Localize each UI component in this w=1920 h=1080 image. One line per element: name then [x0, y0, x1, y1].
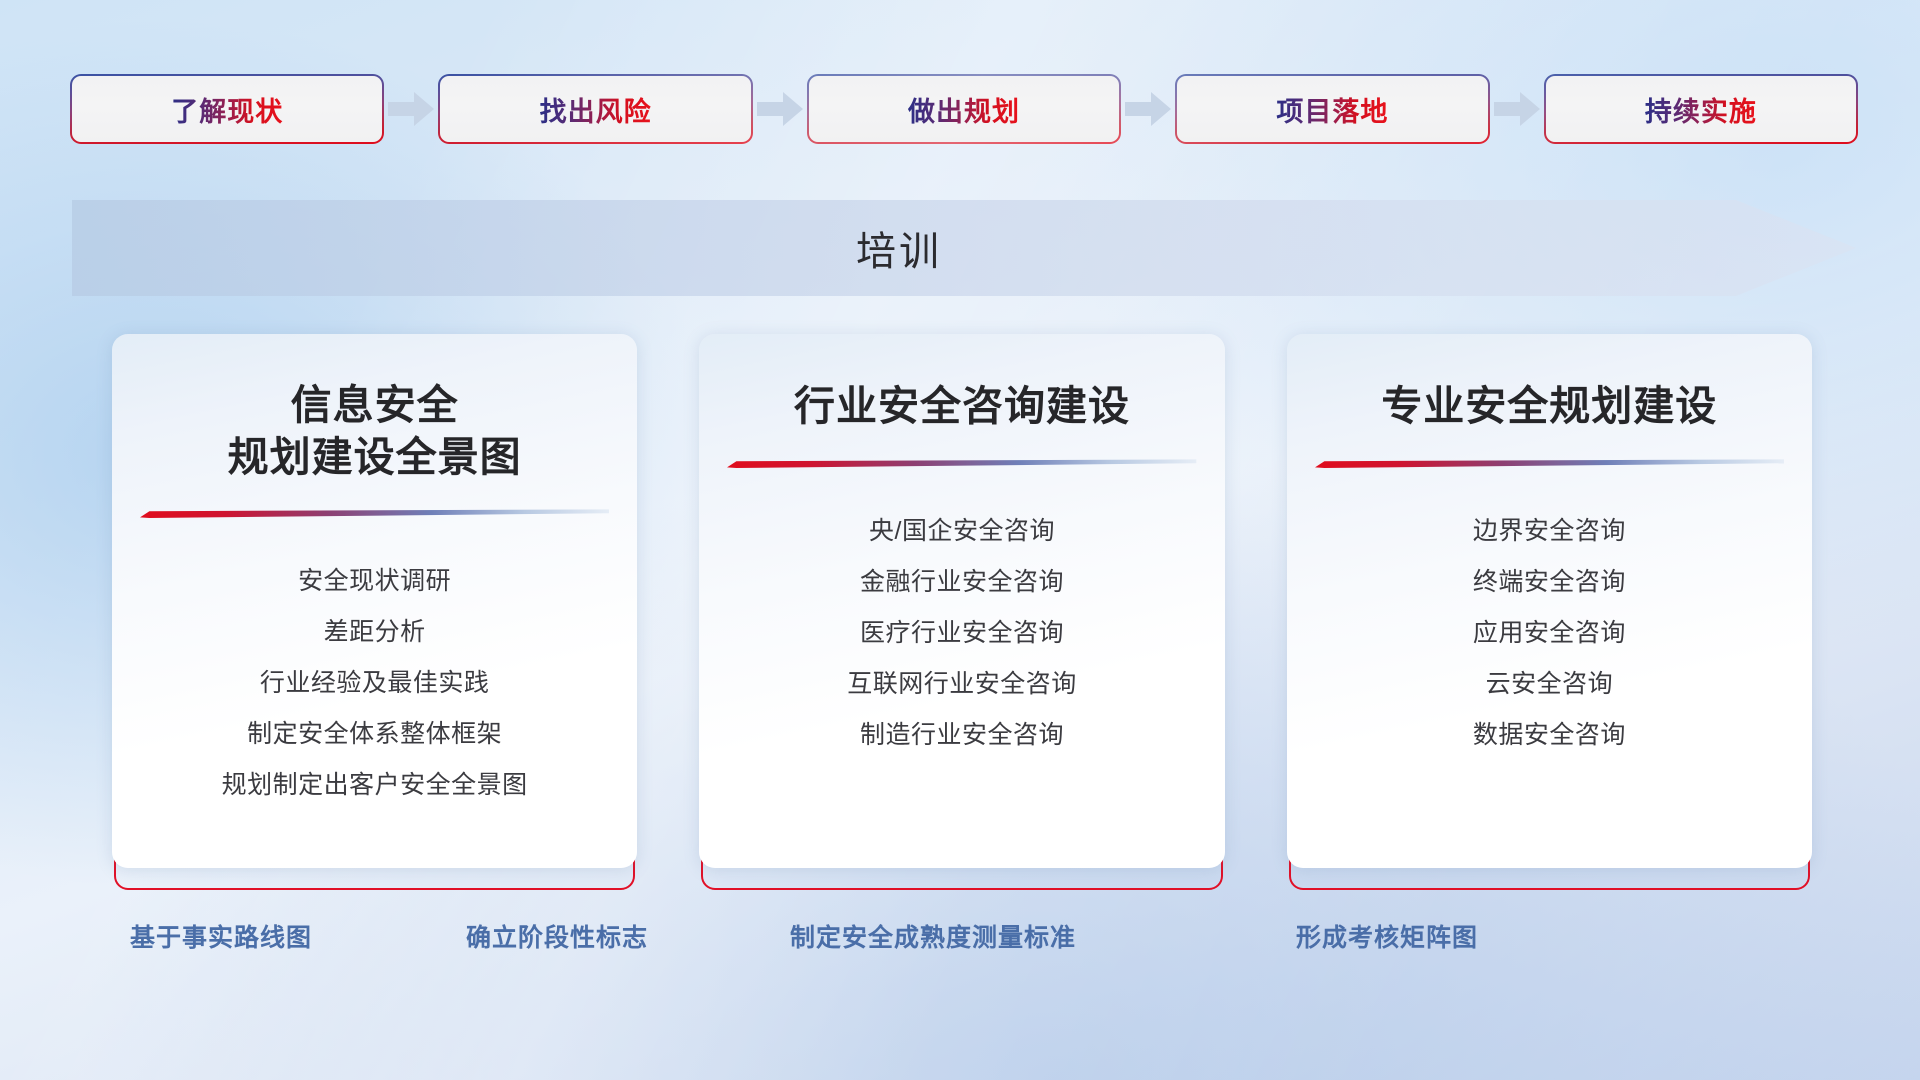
- card-row: 信息安全 规划建设全景图: [112, 334, 1812, 882]
- card-title-line: 专业安全规划建设: [1381, 380, 1717, 433]
- list-item: 制定安全体系整体框架: [222, 709, 528, 760]
- banner-title: 培训: [72, 200, 1856, 296]
- list-item: 规划制定出客户安全全景图: [222, 760, 528, 811]
- card-2[interactable]: 行业安全咨询建设: [699, 334, 1224, 882]
- bottom-label-2: 确立阶段性标志: [466, 918, 648, 954]
- card-title-line: 规划建设全景图: [228, 432, 522, 484]
- card-title: 行业安全咨询建设: [794, 380, 1130, 433]
- training-banner: 培训: [72, 200, 1856, 296]
- bottom-label-4: 形成考核矩阵图: [1296, 918, 1478, 954]
- list-item: 互联网行业安全咨询: [847, 659, 1077, 710]
- card-title-line: 行业安全咨询建设: [794, 380, 1130, 433]
- bottom-label-1: 基于事实路线图: [130, 918, 312, 954]
- gradient-divider: [140, 509, 609, 518]
- list-item: 应用安全咨询: [1473, 608, 1626, 659]
- list-item: 央/国企安全咨询: [847, 506, 1077, 557]
- bottom-label-3: 制定安全成熟度测量标准: [790, 918, 1076, 954]
- list-item: 差距分析: [222, 607, 528, 658]
- step-pill-2[interactable]: 找出风险: [440, 76, 750, 142]
- list-item: 行业经验及最佳实践: [222, 658, 528, 709]
- list-item: 数据安全咨询: [1473, 710, 1626, 761]
- card-title-line: 信息安全: [228, 380, 522, 432]
- list-item: 金融行业安全咨询: [847, 557, 1077, 608]
- step-label: 了解现状: [171, 90, 283, 129]
- list-item: 云安全咨询: [1473, 659, 1626, 710]
- process-step-row: 了解现状 找出风险 做出规划 项目落地 持续实施: [72, 76, 1856, 142]
- step-label: 做出规划: [908, 90, 1020, 129]
- list-item: 安全现状调研: [222, 556, 528, 607]
- arrow-right-icon: [1119, 89, 1177, 129]
- card-title: 专业安全规划建设: [1381, 380, 1717, 433]
- card-title: 信息安全 规划建设全景图: [228, 380, 522, 483]
- step-label: 项目落地: [1276, 90, 1388, 129]
- card-1[interactable]: 信息安全 规划建设全景图: [112, 334, 637, 882]
- card-3[interactable]: 专业安全规划建设: [1287, 334, 1812, 882]
- step-pill-4[interactable]: 项目落地: [1177, 76, 1487, 142]
- bottom-label-row: 基于事实路线图 确立阶段性标志 制定安全成熟度测量标准 形成考核矩阵图: [0, 918, 1920, 964]
- card-item-list: 央/国企安全咨询 金融行业安全咨询 医疗行业安全咨询 互联网行业安全咨询 制造行…: [847, 506, 1077, 761]
- step-label: 找出风险: [540, 90, 652, 129]
- list-item: 终端安全咨询: [1473, 557, 1626, 608]
- arrow-right-icon: [382, 89, 440, 129]
- gradient-divider: [1315, 459, 1784, 468]
- list-item: 制造行业安全咨询: [847, 710, 1077, 761]
- list-item: 医疗行业安全咨询: [847, 608, 1077, 659]
- gradient-divider: [727, 459, 1196, 468]
- list-item: 边界安全咨询: [1473, 506, 1626, 557]
- step-pill-3[interactable]: 做出规划: [809, 76, 1119, 142]
- card-item-list: 边界安全咨询 终端安全咨询 应用安全咨询 云安全咨询 数据安全咨询: [1473, 506, 1626, 761]
- step-pill-1[interactable]: 了解现状: [72, 76, 382, 142]
- arrow-right-icon: [1488, 89, 1546, 129]
- arrow-right-icon: [751, 89, 809, 129]
- card-item-list: 安全现状调研 差距分析 行业经验及最佳实践 制定安全体系整体框架 规划制定出客户…: [222, 556, 528, 811]
- step-pill-5[interactable]: 持续实施: [1546, 76, 1856, 142]
- step-label: 持续实施: [1645, 90, 1757, 129]
